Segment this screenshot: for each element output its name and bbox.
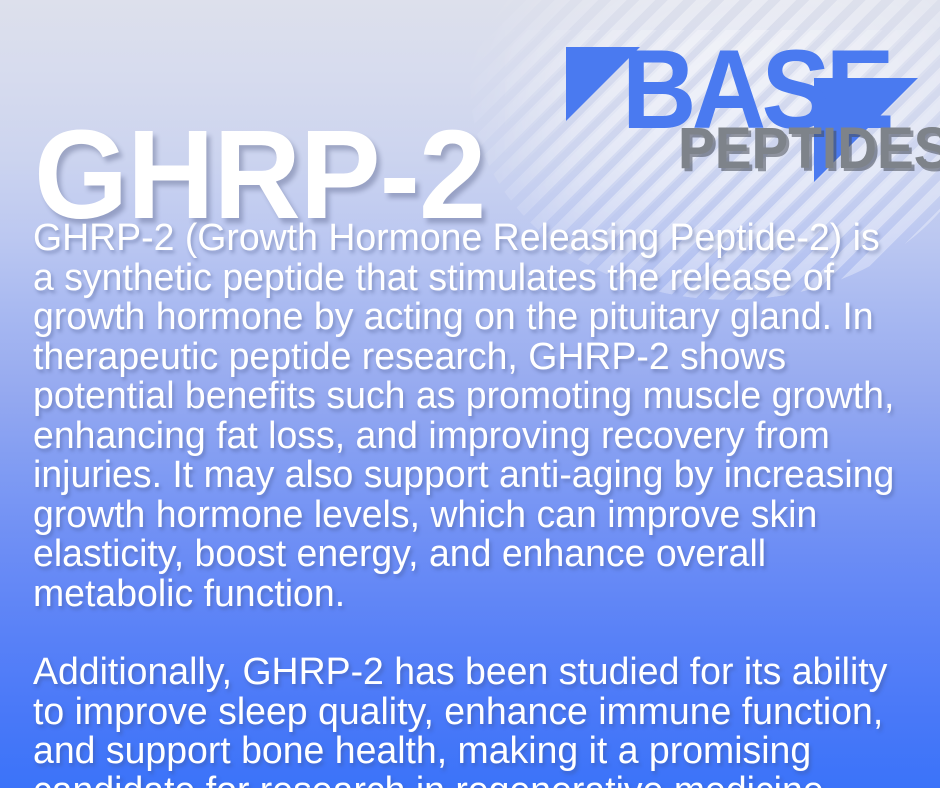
brand-logo: BASE PEPTIDES (566, 24, 918, 174)
description-paragraph: Additionally, GHRP-2 has been studied fo… (33, 653, 910, 788)
brand-name-secondary: PEPTIDES (678, 120, 940, 178)
product-info-poster: GHRP-2 BASE PEPTIDES GHRP-2 (Growth Horm… (0, 0, 940, 788)
description-text-block: GHRP-2 (Growth Hormone Releasing Peptide… (33, 219, 910, 788)
description-paragraph: GHRP-2 (Growth Hormone Releasing Peptide… (33, 219, 910, 614)
